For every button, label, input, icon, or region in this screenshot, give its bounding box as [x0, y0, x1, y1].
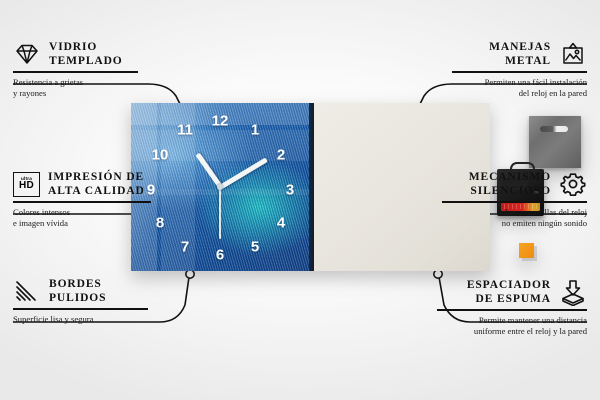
callout-espaciador-espuma: ESPACIADOR DE ESPUMA Permite mantener un… — [437, 278, 587, 337]
foam-spacer-icon — [559, 279, 587, 306]
diamond-icon — [13, 42, 41, 66]
clock-numeral-12: 12 — [212, 114, 229, 129]
callout-mecanismo-silencioso: MECANISMO SILENCIOSO Las manecillas del … — [442, 170, 587, 229]
callout-desc: Permite mantener una distancia uniforme … — [437, 315, 587, 338]
callout-rule — [13, 201, 151, 203]
callout-rule — [13, 308, 148, 310]
clock-numeral-4: 4 — [277, 216, 285, 231]
callout-desc: Permiten una fácil instalación del reloj… — [452, 77, 587, 100]
callout-title: IMPRESIÓN DE ALTA CALIDAD — [48, 170, 145, 198]
callout-bordes-pulidos: BORDES PULIDOS Superficie lisa y segura — [13, 277, 148, 325]
callout-title: MECANISMO SILENCIOSO — [469, 170, 551, 198]
picture-hanger-icon — [559, 41, 587, 67]
callout-desc: Superficie lisa y segura — [13, 314, 148, 325]
glass-gloss — [131, 103, 309, 271]
callout-title: ESPACIADOR DE ESPUMA — [467, 278, 551, 306]
leader-dot-bordes — [186, 270, 194, 278]
callout-title: MANEJAS METAL — [489, 40, 551, 68]
product-image: 12 1 2 3 4 5 6 7 8 9 10 11 — [131, 103, 490, 271]
callout-title: VIDRIO TEMPLADO — [49, 40, 123, 68]
leader-dot-espaciador — [434, 270, 442, 278]
ultra-hd-icon: ultra HD — [13, 172, 40, 197]
callout-rule — [442, 201, 587, 203]
metal-hanger-plate — [529, 116, 581, 168]
callout-vidrio-templado: VIDRIO TEMPLADO Resistencia a grietas y … — [13, 40, 138, 99]
clock-numeral-5: 5 — [251, 240, 259, 255]
clock-numeral-3: 3 — [286, 183, 294, 198]
clock-numeral-10: 10 — [152, 148, 169, 163]
clock-numeral-11: 11 — [177, 123, 193, 138]
callout-rule — [437, 309, 587, 311]
gear-icon — [559, 171, 587, 197]
clock-numeral-8: 8 — [156, 216, 164, 231]
clock-front-panel: 12 1 2 3 4 5 6 7 8 9 10 11 — [131, 103, 309, 271]
foam-spacer — [519, 243, 534, 258]
callout-desc: Colores intensos e imagen vívida — [13, 207, 151, 230]
clock-numeral-6: 6 — [216, 248, 224, 263]
callout-desc: Las manecillas del reloj no emiten ningú… — [442, 207, 587, 230]
callout-rule — [452, 71, 587, 73]
callout-title: BORDES PULIDOS — [49, 277, 106, 305]
clock-numeral-2: 2 — [277, 148, 285, 163]
clock-numeral-7: 7 — [181, 240, 189, 255]
ultra-hd-icon-large-text: HD — [19, 181, 34, 191]
callout-desc: Resistencia a grietas y rayones — [13, 77, 138, 100]
callout-impresion-alta-calidad: ultra HD IMPRESIÓN DE ALTA CALIDAD Color… — [13, 170, 151, 229]
infographic-stage: 12 1 2 3 4 5 6 7 8 9 10 11 — [0, 0, 600, 400]
clock-center-cap — [217, 184, 223, 190]
callout-rule — [13, 71, 138, 73]
callout-manejas-metal: MANEJAS METAL Permiten una fácil instala… — [452, 40, 587, 99]
clock-numeral-1: 1 — [251, 123, 259, 138]
polished-edge-icon — [13, 279, 41, 303]
hanger-keyhole-slot — [540, 126, 568, 132]
